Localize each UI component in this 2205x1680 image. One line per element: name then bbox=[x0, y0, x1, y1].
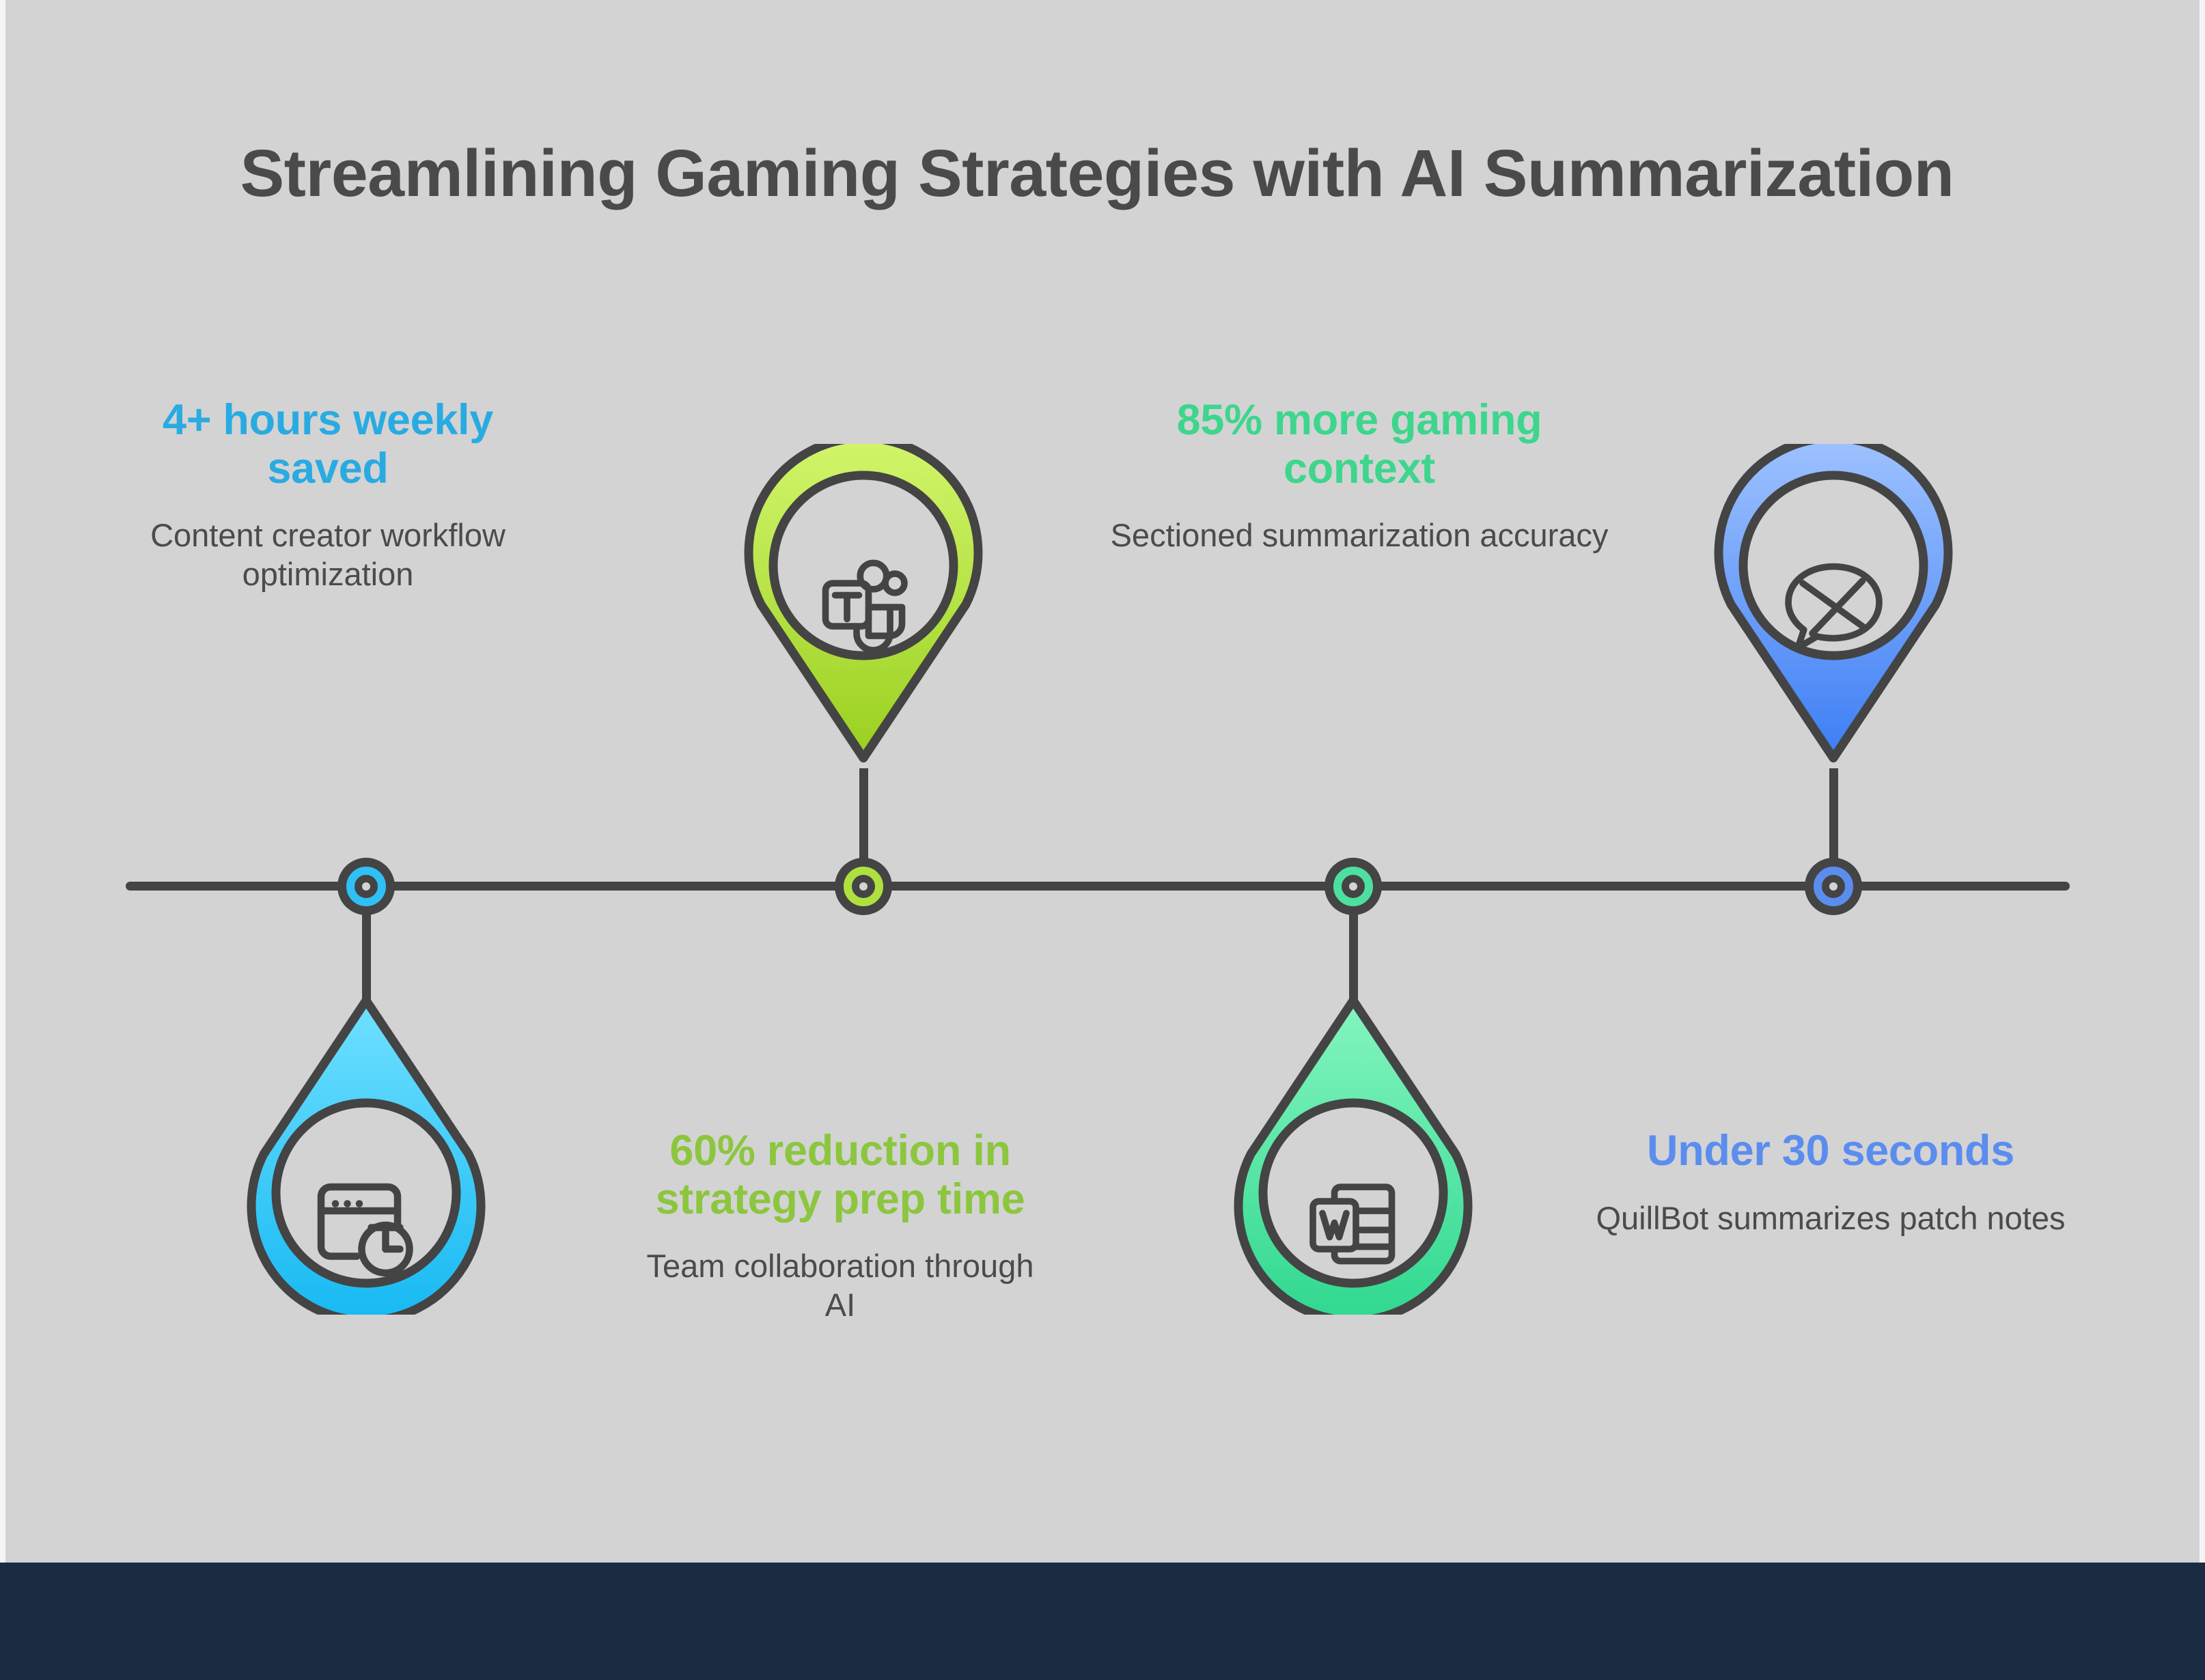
footer-bar bbox=[0, 1563, 2205, 1680]
node-inner-under-30-seconds bbox=[1822, 875, 1845, 898]
marker-hours-saved[interactable] bbox=[243, 994, 489, 1315]
item-gaming-context-subtext: Sectioned summarization accuracy bbox=[1107, 516, 1612, 555]
item-under-30-seconds-subtext: QuillBot summarizes patch notes bbox=[1592, 1199, 2070, 1237]
item-strategy-prep-text: 60% reduction in strategy prep time Team… bbox=[635, 1127, 1045, 1325]
item-hours-saved-headline: 4+ hours weekly saved bbox=[102, 396, 553, 492]
page-title: Streamlining Gaming Strategies with AI S… bbox=[0, 135, 2194, 212]
node-inner-strategy-prep bbox=[852, 875, 875, 898]
node-inner-gaming-context bbox=[1342, 875, 1365, 898]
item-hours-saved-text: 4+ hours weekly saved Content creator wo… bbox=[102, 396, 553, 594]
item-strategy-prep-subtext: Team collaboration through AI bbox=[635, 1246, 1045, 1325]
marker-under-30-seconds[interactable] bbox=[1710, 444, 1956, 765]
item-gaming-context-headline: 85% more gaming context bbox=[1107, 396, 1612, 492]
timeline-axis bbox=[126, 882, 2070, 891]
item-hours-saved-subtext: Content creator workflow optimization bbox=[102, 516, 553, 594]
marker-strategy-prep[interactable] bbox=[740, 444, 986, 765]
timeline-node-gaming-context[interactable] bbox=[1325, 858, 1382, 915]
timeline-node-under-30-seconds[interactable] bbox=[1805, 858, 1862, 915]
timeline-node-hours-saved[interactable] bbox=[337, 858, 395, 915]
marker-gaming-context[interactable] bbox=[1230, 994, 1476, 1315]
item-under-30-seconds-headline: Under 30 seconds bbox=[1592, 1127, 2070, 1175]
node-inner-hours-saved bbox=[355, 875, 378, 898]
timeline-node-strategy-prep[interactable] bbox=[835, 858, 892, 915]
item-gaming-context-text: 85% more gaming context Sectioned summar… bbox=[1107, 396, 1612, 555]
item-strategy-prep-headline: 60% reduction in strategy prep time bbox=[635, 1127, 1045, 1223]
item-under-30-seconds-text: Under 30 seconds QuillBot summarizes pat… bbox=[1592, 1127, 2070, 1237]
infographic-canvas bbox=[5, 0, 2200, 1563]
infographic-root: Streamlining Gaming Strategies with AI S… bbox=[0, 0, 2205, 1680]
